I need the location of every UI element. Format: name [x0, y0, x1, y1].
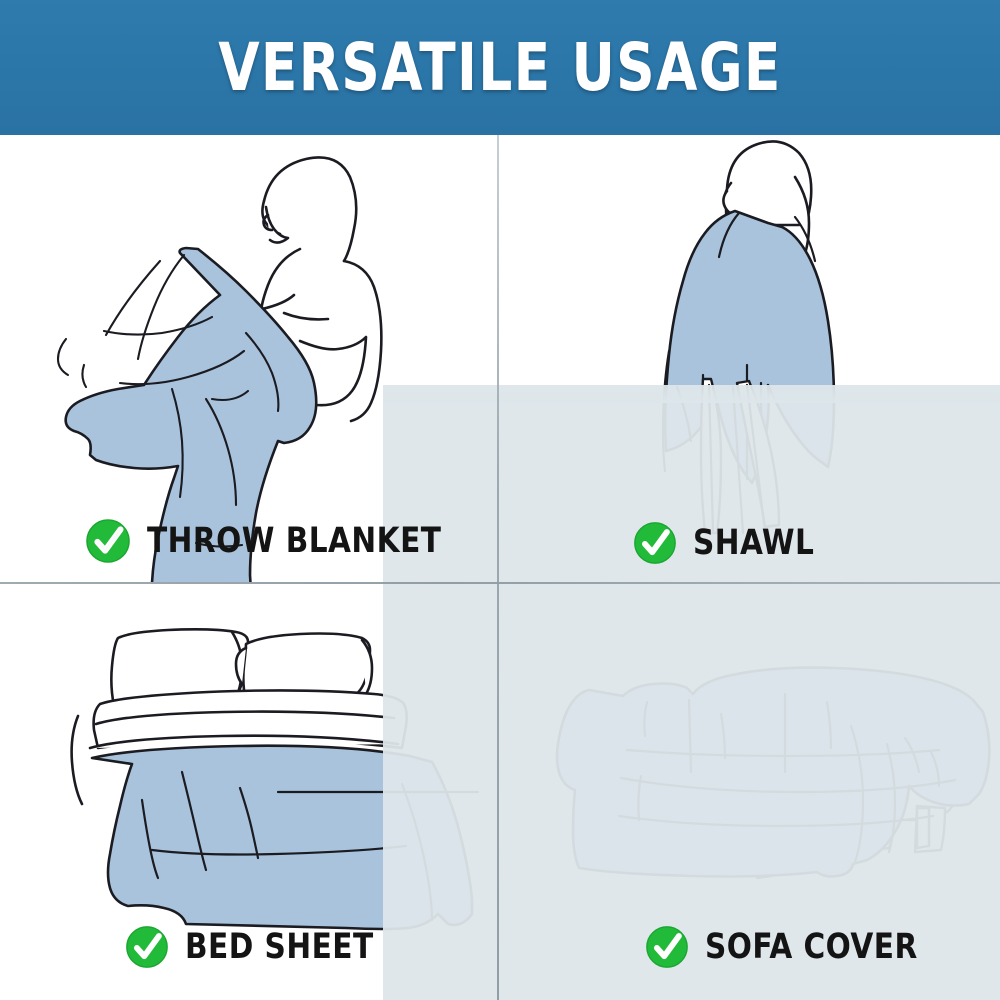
green-check-icon	[125, 925, 169, 969]
label-bed-sheet: BED SHEET	[125, 925, 386, 969]
label-shawl: SHAWL	[633, 521, 822, 565]
illustration-throw-blanket	[0, 135, 497, 582]
green-check-icon	[633, 521, 677, 565]
panel-shawl	[499, 135, 1000, 582]
page-title: VERSATILE USAGE	[50, 0, 950, 135]
label-text: SOFA COVER	[705, 929, 918, 965]
label-sofa-cover: SOFA COVER	[645, 925, 931, 969]
label-throw-blanket: THROW BLANKET	[85, 518, 460, 564]
header-banner: VERSATILE USAGE	[0, 0, 1000, 135]
grid-divider-vertical	[497, 135, 499, 1000]
label-text: THROW BLANKET	[147, 523, 441, 559]
green-check-icon	[645, 925, 689, 969]
panel-throw-blanket	[0, 135, 497, 582]
green-check-icon	[85, 518, 131, 564]
illustration-shawl	[499, 135, 1000, 582]
grid-divider-horizontal	[0, 582, 1000, 584]
label-text: BED SHEET	[185, 929, 374, 965]
label-text: SHAWL	[693, 525, 814, 561]
infographic-root: VERSATILE USAGE	[0, 0, 1000, 1000]
